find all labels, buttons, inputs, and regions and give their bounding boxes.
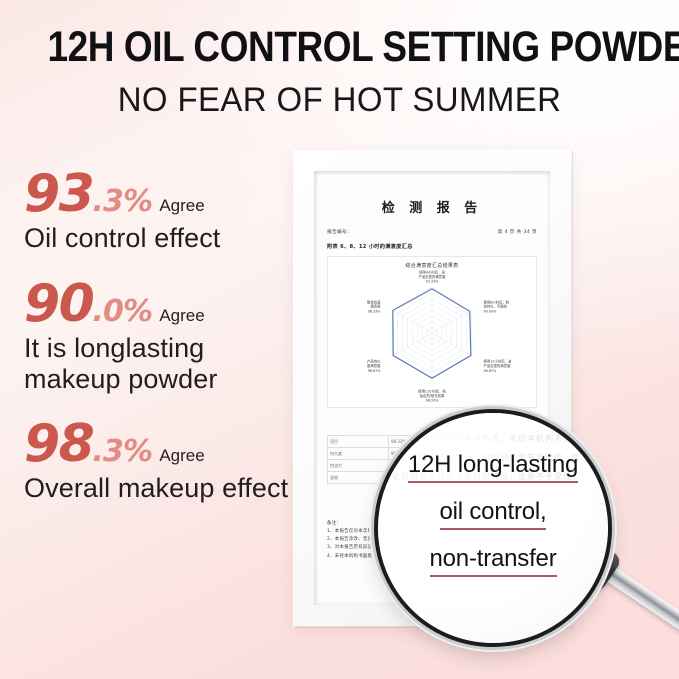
claim-line: non-transfer (430, 547, 557, 577)
stat-integer: 90 (24, 278, 93, 330)
svg-text:96.67%: 96.67% (368, 369, 381, 373)
svg-text:满意度: 满意度 (370, 304, 381, 309)
stat-description: It is longlasting makeup powder (24, 333, 289, 395)
poster-root: 12H OIL CONTROL SETTING POWDER NO FEAR O… (0, 0, 679, 679)
radar-chart-svg: 使用4小时后，油产品定型的满意度93.33%使用8小时后，粉妆持久、不脱妆90.… (328, 265, 536, 405)
stat-block: 93 .3% Agree Oil control effect (24, 168, 289, 254)
claim-line: oil control, (440, 500, 547, 530)
stat-description: Overall makeup effect (24, 473, 289, 504)
svg-text:93.33%: 93.33% (426, 280, 439, 284)
radar-axis-labels: 使用4小时后，油产品定型的满意度93.33%使用8小时后，粉妆持久、不脱妆90.… (367, 270, 512, 403)
svg-text:整体妆感: 整体妆感 (367, 299, 381, 304)
svg-text:度满意度: 度满意度 (367, 363, 381, 368)
document-page-number: 第 4 页 共 34 页 (498, 229, 537, 235)
svg-text:使用12小时后，油: 使用12小时后，油 (484, 359, 512, 364)
document-meta: 报告编号： 第 4 页 共 34 页 (327, 229, 537, 235)
stat-agree-label: Agree (159, 447, 204, 464)
svg-text:产品定型的满意度: 产品定型的满意度 (419, 274, 447, 279)
page-subtitle: NO FEAR OF HOT SUMMER (10, 83, 669, 117)
stat-decimal: .3% (92, 437, 152, 467)
stat-value-row: 98 .3% Agree (24, 418, 289, 470)
stat-integer: 98 (24, 418, 93, 470)
svg-text:96.67%: 96.67% (484, 369, 497, 373)
svg-text:90.00%: 90.00% (484, 309, 497, 313)
magnifier-lens: 备注：本报告仅对来样负责，未经本机构书面批准，不得复制本报告；对检测结果有异议的… (378, 413, 608, 643)
page-title: 12H OIL CONTROL SETTING POWDER (48, 26, 632, 69)
claim-line: 12H long-lasting (408, 453, 578, 483)
document-report-number: 报告编号： (327, 229, 352, 235)
stats-column: 93 .3% Agree Oil control effect 90 .0% A… (24, 168, 289, 504)
svg-text:妆持久、不脱妆: 妆持久、不脱妆 (484, 304, 508, 309)
stat-decimal: .0% (92, 297, 152, 327)
stat-block: 90 .0% Agree It is longlasting makeup po… (24, 278, 289, 395)
stat-block: 98 .3% Agree Overall makeup effect (24, 418, 289, 504)
stat-agree-label: Agree (159, 197, 204, 214)
stat-value-row: 90 .0% Agree (24, 278, 289, 330)
radar-spokes (393, 287, 472, 378)
stat-description: Oil control effect (24, 223, 289, 254)
document-title: 检 测 报 告 (318, 197, 546, 216)
svg-text:使用4小时后，油: 使用4小时后，油 (419, 270, 445, 275)
stat-decimal: .3% (92, 187, 152, 217)
svg-text:产品持久: 产品持久 (367, 359, 381, 364)
stat-value-row: 93 .3% Agree (24, 168, 289, 220)
document-subheading: 附表 6、8、12 小时的满意度汇总 (327, 243, 546, 250)
svg-text:使用8小时后，粉: 使用8小时后，粉 (484, 299, 510, 304)
header-block: 12H OIL CONTROL SETTING POWDER NO FEAR O… (0, 26, 679, 117)
magnifier-claim-text: 12H long-lasting oil control, non-transf… (378, 453, 608, 577)
stat-integer: 93 (24, 168, 93, 220)
svg-text:98.33%: 98.33% (368, 309, 381, 313)
svg-text:产品定型的满意度: 产品定型的满意度 (484, 363, 512, 368)
svg-text:98.33%: 98.33% (426, 399, 439, 403)
svg-text:妆自然/哑光效果: 妆自然/哑光效果 (420, 393, 445, 398)
svg-text:使用12小时后，粉: 使用12小时后，粉 (418, 388, 446, 393)
radar-chart: 综合满意度汇总结果表 使用4小时后，油产品定型的满意度93.33%使用8小时后，… (327, 256, 537, 408)
stat-agree-label: Agree (159, 307, 204, 324)
